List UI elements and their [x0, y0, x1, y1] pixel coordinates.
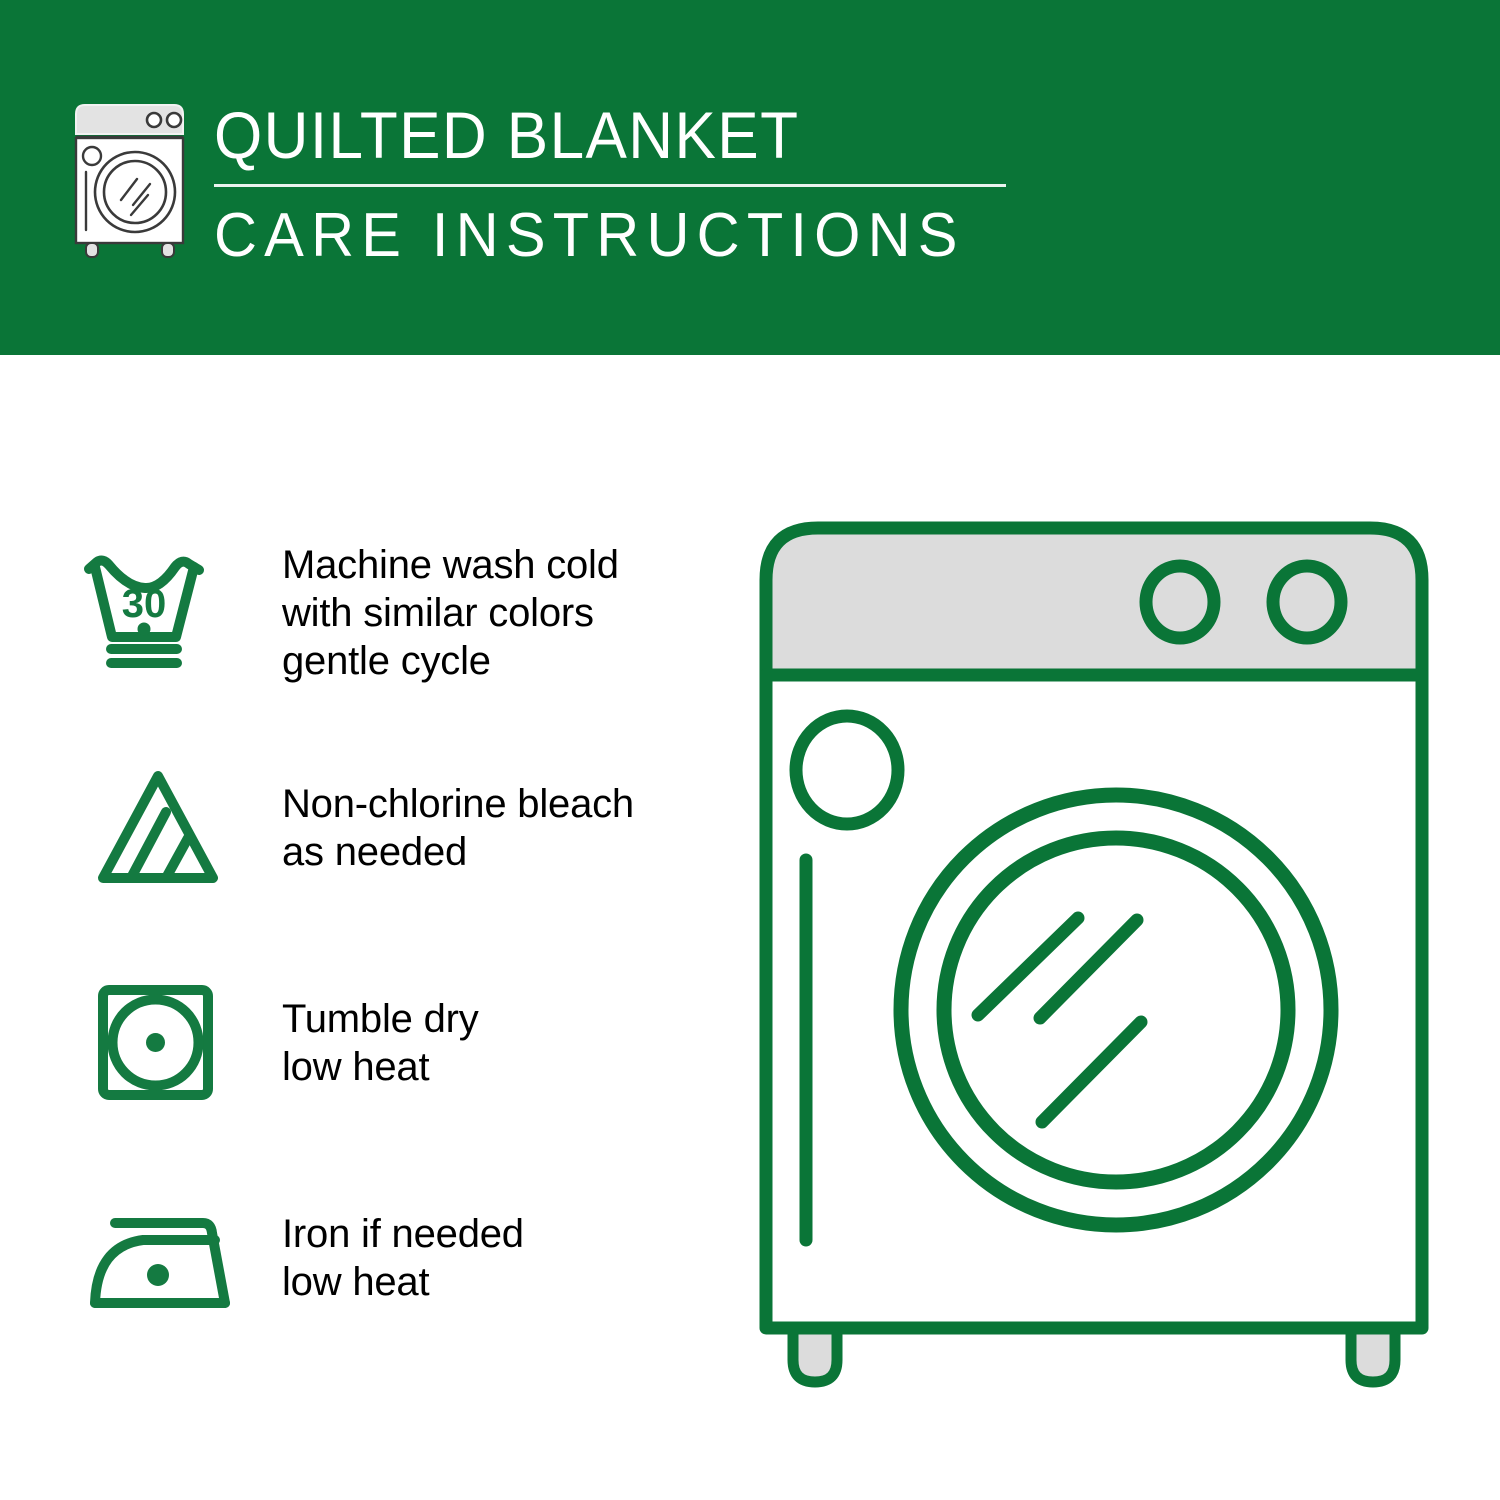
care-label-bleach: Non-chlorine bleach as needed	[282, 780, 720, 876]
wash-temperature-value: 30	[122, 582, 167, 626]
title-divider	[214, 184, 1006, 187]
iron-low-heat-icon	[60, 1190, 260, 1325]
care-row-iron: Iron if needed low heat	[60, 1150, 720, 1365]
drum-inner	[944, 838, 1288, 1182]
care-line: with similar colors	[282, 589, 720, 637]
knob-right	[1273, 566, 1341, 638]
knob-left	[1146, 566, 1214, 638]
care-line: Tumble dry	[282, 995, 720, 1043]
tumble-dry-low-icon	[60, 975, 260, 1110]
non-chlorine-bleach-triangle-icon	[60, 760, 260, 895]
detergent-indicator	[796, 716, 898, 824]
front-load-washing-machine-illustration	[748, 500, 1448, 1420]
washing-machine-icon	[62, 100, 197, 265]
care-instructions-page: QUILTED BLANKET CARE INSTRUCTIONS 30	[0, 0, 1500, 1500]
care-line: Non-chlorine bleach	[282, 780, 720, 828]
header-banner: QUILTED BLANKET CARE INSTRUCTIONS	[0, 0, 1500, 355]
care-instruction-list: 30 Machine wash cold with similar colors…	[60, 505, 720, 1365]
care-label-iron: Iron if needed low heat	[282, 1210, 720, 1306]
care-line: low heat	[282, 1258, 720, 1306]
care-row-tumble-dry: Tumble dry low heat	[60, 935, 720, 1150]
care-line: low heat	[282, 1043, 720, 1091]
page-title: QUILTED BLANKET	[214, 98, 985, 172]
care-line: Machine wash cold	[282, 541, 720, 589]
care-line: Iron if needed	[282, 1210, 720, 1258]
care-label-wash: Machine wash cold with similar colors ge…	[282, 541, 720, 685]
header-text-block: QUILTED BLANKET CARE INSTRUCTIONS	[214, 98, 1034, 271]
care-line: gentle cycle	[282, 637, 720, 685]
care-row-wash: 30 Machine wash cold with similar colors…	[60, 505, 720, 720]
page-subtitle: CARE INSTRUCTIONS	[214, 201, 1001, 271]
care-row-bleach: Non-chlorine bleach as needed	[60, 720, 720, 935]
care-line: as needed	[282, 828, 720, 876]
care-label-tumble-dry: Tumble dry low heat	[282, 995, 720, 1091]
wash-tub-30-icon: 30	[60, 545, 260, 680]
